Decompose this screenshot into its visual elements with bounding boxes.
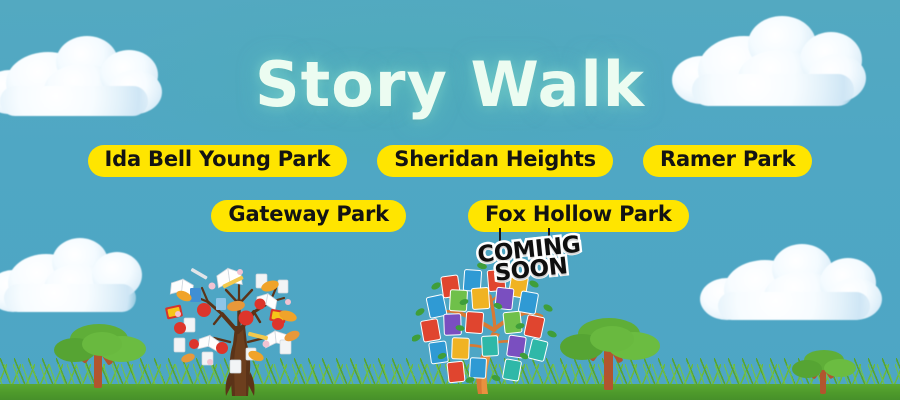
pill-fox-hollow-park[interactable]: Fox Hollow Park bbox=[468, 200, 689, 232]
park-links-row-1: Ida Bell Young Park Sheridan Heights Ram… bbox=[0, 145, 900, 177]
pill-ida-bell-young-park[interactable]: Ida Bell Young Park bbox=[88, 145, 348, 177]
pill-gateway-park[interactable]: Gateway Park bbox=[211, 200, 406, 232]
cloud-mid-right bbox=[700, 242, 886, 320]
book-tree-left bbox=[160, 252, 320, 396]
page-title: Story Walk bbox=[0, 48, 900, 121]
pill-sheridan-heights[interactable]: Sheridan Heights bbox=[377, 145, 613, 177]
pill-ramer-park[interactable]: Ramer Park bbox=[643, 145, 812, 177]
story-walk-banner: Story Walk Ida Bell Young Park Sheridan … bbox=[0, 0, 900, 400]
park-links-row-2: Gateway Park Fox Hollow Park bbox=[0, 200, 900, 232]
simple-tree-right-large bbox=[560, 316, 660, 390]
simple-tree-left bbox=[52, 322, 148, 388]
coming-soon-badge-wrap: COMING SOON bbox=[465, 228, 595, 288]
simple-tree-right-small bbox=[792, 350, 856, 394]
cloud-mid-left bbox=[0, 236, 146, 312]
coming-soon-badge[interactable]: COMING SOON bbox=[463, 233, 597, 287]
